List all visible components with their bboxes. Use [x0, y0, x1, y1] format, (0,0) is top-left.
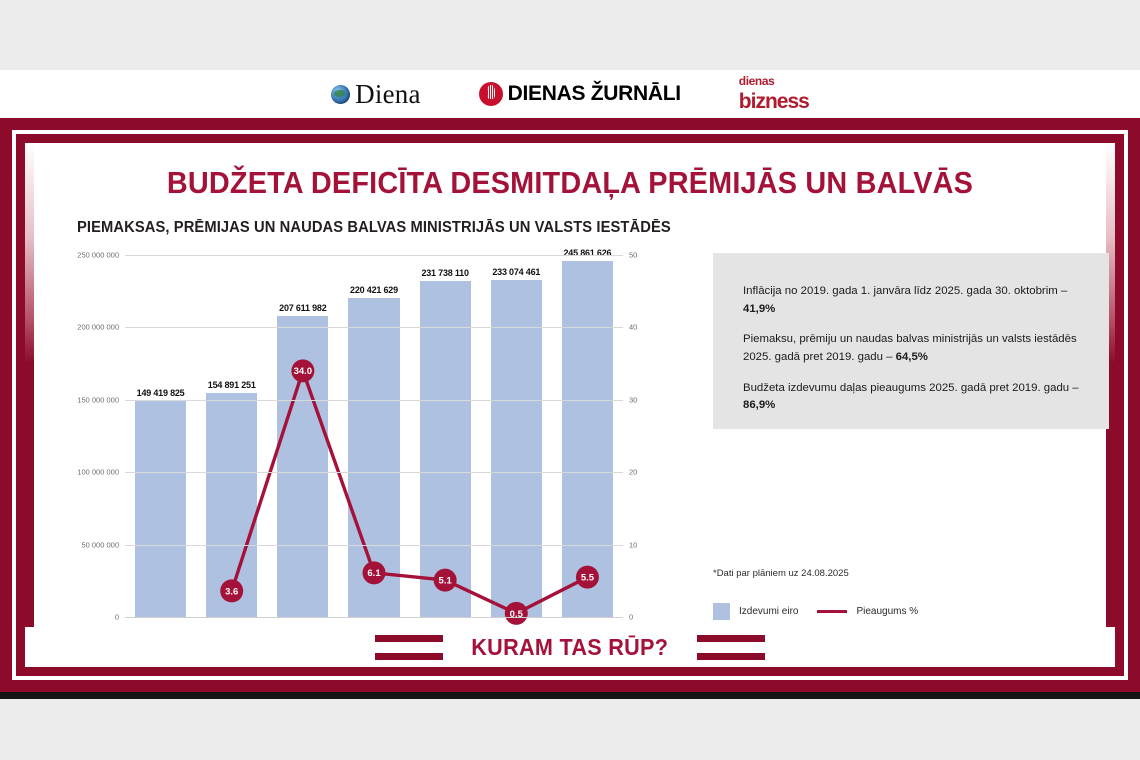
infographic-page: Diena DIENAS ŽURNĀLI dienas bizness BUDŽ… [0, 0, 1140, 760]
data-point-label: 34.0 [294, 366, 313, 377]
key-figures-box: Inflācija no 2019. gada 1. janvāra līdz … [713, 253, 1109, 429]
y-axis-tick-left: 0 [115, 613, 119, 622]
line-series: 3.634.06.15.10.55.5 [125, 255, 623, 617]
globe-icon [331, 85, 350, 104]
logo-dienas-bizness-bottom: bizness [739, 92, 809, 111]
publisher-logo-band: Diena DIENAS ŽURNĀLI dienas bizness [0, 70, 1140, 118]
logo-dienas-bizness[interactable]: dienas bizness [739, 76, 809, 111]
legend-swatch-line [817, 610, 847, 613]
key-figure-expenditure-text: Budžeta izdevumu daļas pieaugums 2025. g… [743, 382, 1079, 394]
letterbox-bottom [0, 699, 1140, 760]
y-axis-tick-right: 40 [629, 323, 637, 332]
y-axis-tick-right: 50 [629, 251, 637, 260]
trend-line [232, 371, 588, 614]
data-point-label: 6.1 [367, 568, 381, 579]
gridline [125, 400, 623, 401]
y-axis-tick-left: 50 000 000 [81, 540, 119, 549]
key-figure-inflation-text: Inflācija no 2019. gada 1. janvāra līdz … [743, 285, 1067, 297]
logo-diena-label: Diena [355, 81, 420, 108]
logo-dienas-zurnali-label: DIENAS ŽURNĀLI [508, 82, 681, 106]
y-axis-tick-right: 10 [629, 540, 637, 549]
poster-frame-outer: BUDŽETA DEFICĪTA DESMITDAĻA PRĒMIJĀS UN … [0, 118, 1140, 692]
data-point-label: 5.1 [439, 575, 453, 586]
campaign-banner: KURAM TAS RŪP? [25, 627, 1115, 667]
key-figure-bonuses-value: 64,5% [896, 351, 928, 363]
poster-frame-gap: BUDŽETA DEFICĪTA DESMITDAĻA PRĒMIJĀS UN … [12, 130, 1128, 680]
key-figure-inflation: Inflācija no 2019. gada 1. janvāra līdz … [743, 283, 1081, 318]
quill-circle-icon [479, 82, 503, 106]
y-axis-tick-left: 100 000 000 [77, 468, 119, 477]
y-axis-tick-left: 150 000 000 [77, 395, 119, 404]
legend-swatch-bars [713, 603, 730, 620]
logo-dienas-zurnali[interactable]: DIENAS ŽURNĀLI [479, 82, 681, 106]
logo-diena[interactable]: Diena [331, 81, 420, 108]
poster-frame-inner: BUDŽETA DEFICĪTA DESMITDAĻA PRĒMIJĀS UN … [16, 134, 1124, 676]
edge-gradient-left [25, 143, 34, 667]
legend-label-bars: Izdevumi eiro [739, 606, 798, 617]
chart: 149 419 825154 891 251207 611 982220 421… [65, 247, 665, 647]
logo-dienas-bizness-top: dienas [739, 76, 775, 87]
gridline [125, 545, 623, 546]
footnote: *Dati par plāniem uz 24.08.2025 [713, 568, 849, 579]
latvian-flag-icon-right [697, 635, 765, 660]
y-axis-tick-right: 30 [629, 395, 637, 404]
campaign-banner-label: KURAM TAS RŪP? [472, 634, 669, 661]
gridline [125, 472, 623, 473]
key-figure-expenditure-value: 86,9% [743, 399, 775, 411]
plot-area: 149 419 825154 891 251207 611 982220 421… [125, 255, 623, 617]
legend-label-line: Pieaugums % [856, 606, 918, 617]
letterbox-top [0, 0, 1140, 70]
key-figure-inflation-value: 41,9% [743, 303, 775, 315]
y-axis-tick-right: 20 [629, 468, 637, 477]
gridline [125, 327, 623, 328]
poster-canvas: BUDŽETA DEFICĪTA DESMITDAĻA PRĒMIJĀS UN … [25, 143, 1115, 667]
y-axis-tick-left: 250 000 000 [77, 251, 119, 260]
chart-legend: Izdevumi eiro Pieaugums % [713, 603, 918, 620]
data-point-label: 3.6 [225, 586, 238, 597]
y-axis-tick-right: 0 [629, 613, 633, 622]
page-title: BUDŽETA DEFICĪTA DESMITDAĻA PRĒMIJĀS UN … [63, 165, 1077, 201]
gridline [125, 255, 623, 256]
y-axis-tick-left: 200 000 000 [77, 323, 119, 332]
chart-title: PIEMAKSAS, PRĒMIJAS UN NAUDAS BALVAS MIN… [77, 219, 671, 237]
key-figure-bonuses: Piemaksu, prēmiju un naudas balvas minis… [743, 331, 1081, 366]
bottom-black-strip [0, 692, 1140, 699]
latvian-flag-icon-left [375, 635, 443, 660]
data-point-label: 5.5 [581, 573, 595, 584]
key-figure-expenditure: Budžeta izdevumu daļas pieaugums 2025. g… [743, 380, 1081, 415]
